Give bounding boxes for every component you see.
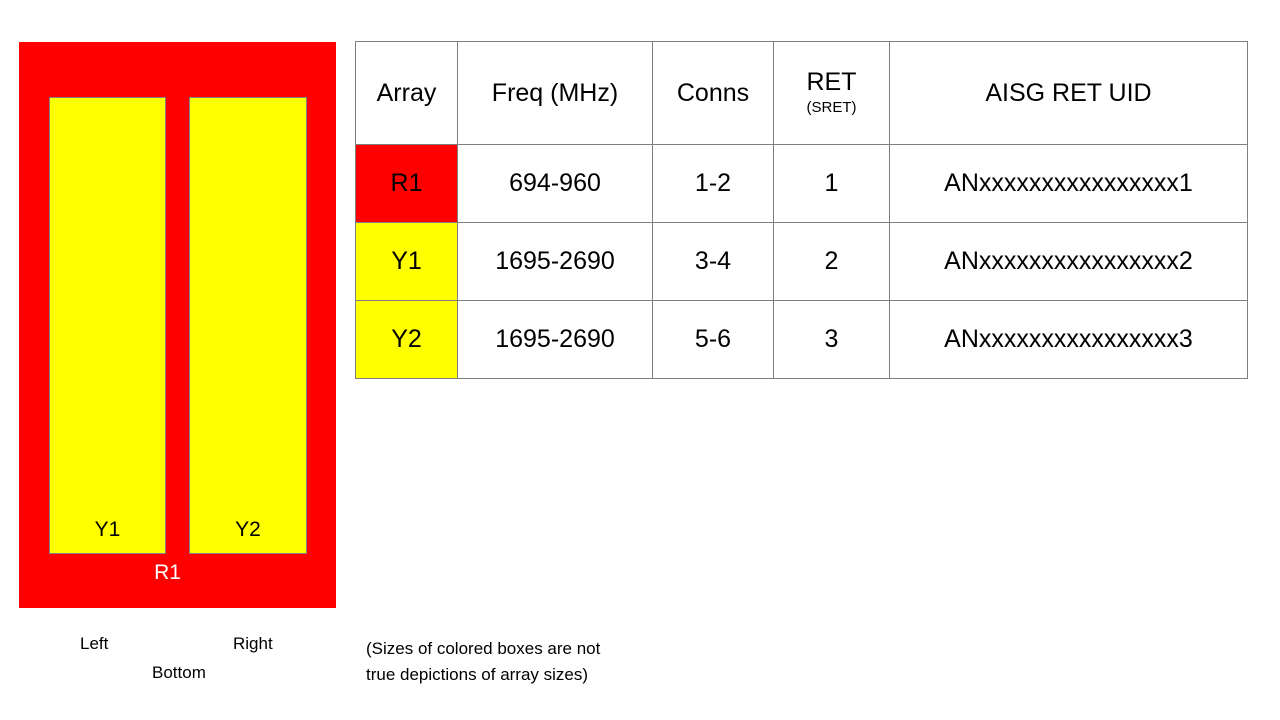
table-header-row: Array Freq (MHz) Conns RET (SRET) AISG R…: [356, 42, 1248, 145]
array-box-y1-label: Y1: [50, 518, 165, 541]
column-header-array: Array: [356, 42, 458, 145]
cell-conns: 5-6: [653, 301, 774, 379]
orientation-label-left: Left: [80, 635, 108, 654]
cell-conns: 1-2: [653, 145, 774, 223]
column-header-ret: RET (SRET): [774, 42, 890, 145]
cell-ret: 1: [774, 145, 890, 223]
cell-aisg-ret-uid: ANxxxxxxxxxxxxxxxx3: [890, 301, 1248, 379]
cell-freq: 694-960: [458, 145, 653, 223]
column-header-aisg-ret-uid: AISG RET UID: [890, 42, 1248, 145]
orientation-label-right: Right: [233, 635, 273, 654]
column-header-conns-label: Conns: [677, 79, 749, 107]
column-header-aisg-ret-uid-label: AISG RET UID: [985, 79, 1151, 107]
column-header-ret-label: RET: [807, 68, 857, 96]
cell-ret: 2: [774, 223, 890, 301]
table-row: R1 694-960 1-2 1 ANxxxxxxxxxxxxxxxx1: [356, 145, 1248, 223]
table-row: Y2 1695-2690 5-6 3 ANxxxxxxxxxxxxxxxx3: [356, 301, 1248, 379]
cell-ret: 3: [774, 301, 890, 379]
cell-freq: 1695-2690: [458, 301, 653, 379]
column-header-conns: Conns: [653, 42, 774, 145]
page-root: R1 Y1 Y2 Left Right Bottom (Sizes of col…: [0, 0, 1280, 720]
column-header-freq: Freq (MHz): [458, 42, 653, 145]
diagram-footnote-line-2: true depictions of array sizes): [366, 662, 706, 688]
column-header-ret-sublabel: (SRET): [778, 98, 885, 118]
antenna-array-diagram: R1 Y1 Y2: [19, 42, 336, 608]
array-specification-table: Array Freq (MHz) Conns RET (SRET) AISG R…: [355, 41, 1248, 379]
table-row: Y1 1695-2690 3-4 2 ANxxxxxxxxxxxxxxxx2: [356, 223, 1248, 301]
array-box-y2: Y2: [189, 97, 307, 554]
array-box-r1-label: R1: [19, 561, 316, 584]
column-header-array-label: Array: [377, 79, 437, 107]
column-header-freq-label: Freq (MHz): [492, 79, 618, 107]
cell-array: Y2: [356, 301, 458, 379]
orientation-label-bottom: Bottom: [152, 664, 206, 683]
cell-conns: 3-4: [653, 223, 774, 301]
cell-freq: 1695-2690: [458, 223, 653, 301]
cell-array: Y1: [356, 223, 458, 301]
cell-aisg-ret-uid: ANxxxxxxxxxxxxxxxx1: [890, 145, 1248, 223]
array-box-y1: Y1: [49, 97, 166, 554]
array-box-y2-label: Y2: [190, 518, 306, 541]
cell-aisg-ret-uid: ANxxxxxxxxxxxxxxxx2: [890, 223, 1248, 301]
cell-array: R1: [356, 145, 458, 223]
diagram-footnote-line-1: (Sizes of colored boxes are not: [366, 636, 706, 662]
diagram-footnote: (Sizes of colored boxes are not true dep…: [366, 636, 706, 689]
